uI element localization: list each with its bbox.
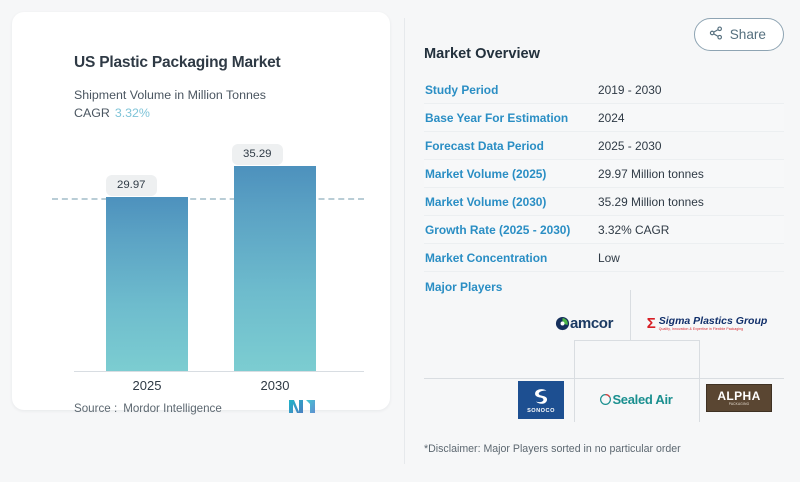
bar-value-label-2030: 35.29 (232, 144, 283, 165)
x-tick-2030: 2030 (234, 378, 316, 393)
cagr-value: 3.32% (115, 106, 150, 120)
market-overview-panel: Market Overview Study Period 2019 - 2030… (424, 46, 784, 302)
table-row: Market Concentration Low (424, 244, 784, 272)
row-value: 3.32% CAGR (598, 223, 669, 237)
sealed-air-wordmark: Sealed Air (612, 392, 672, 407)
x-tick-2025: 2025 (106, 378, 188, 393)
row-value: 29.97 Million tonnes (598, 167, 704, 181)
table-row: Growth Rate (2025 - 2030) 3.32% CAGR (424, 216, 784, 244)
chart-card: US Plastic Packaging Market Shipment Vol… (12, 12, 390, 410)
chart-subtitle: Shipment Volume in Million Tonnes (74, 88, 266, 102)
player-logo-sigma-plastics-group[interactable]: Σ Sigma Plastics Group Quality, Innovati… (642, 310, 772, 336)
player-logo-sonoco[interactable]: SONOCO (510, 380, 572, 420)
player-logo-amcor[interactable]: amcor (536, 308, 632, 338)
sealed-air-icon (599, 393, 612, 406)
sonoco-wordmark: SONOCO (527, 408, 555, 414)
alpha-subtitle: PACKAGING (729, 402, 750, 406)
market-overview-title: Market Overview (424, 46, 784, 62)
table-row: Base Year For Estimation 2024 (424, 104, 784, 132)
grid-divider (424, 378, 784, 379)
row-label: Market Concentration (424, 251, 598, 265)
source-label: Source : (74, 402, 117, 415)
cagr-label: CAGR (74, 106, 110, 120)
sigma-wordmark: Sigma Plastics Group (659, 315, 768, 327)
player-logo-sealed-air[interactable]: Sealed Air (576, 382, 696, 416)
disclaimer-text: *Disclaimer: Major Players sorted in no … (424, 443, 681, 455)
row-value: Low (598, 251, 620, 265)
row-value: 2019 - 2030 (598, 83, 661, 97)
sigma-symbol-icon: Σ (647, 316, 656, 331)
grid-divider (574, 340, 699, 341)
cagr-row: CAGR 3.32% (74, 106, 150, 120)
amcor-icon (555, 316, 570, 331)
player-logo-alpha[interactable]: ALPHA PACKAGING (704, 382, 774, 414)
table-row: Forecast Data Period 2025 - 2030 (424, 132, 784, 160)
alpha-wordmark: ALPHA (717, 390, 760, 402)
row-value: 35.29 Million tonnes (598, 195, 704, 209)
axis-baseline (74, 371, 364, 372)
major-players-grid: amcor Σ Sigma Plastics Group Quality, In… (424, 290, 784, 422)
source-name: Mordor Intelligence (123, 402, 222, 415)
sonoco-icon (530, 387, 552, 407)
row-label: Growth Rate (2025 - 2030) (424, 223, 598, 237)
panel-divider (404, 18, 405, 464)
share-nodes-icon (709, 26, 723, 43)
source-row: Source : Mordor Intelligence (74, 402, 222, 415)
market-snapshot-page: US Plastic Packaging Market Shipment Vol… (0, 0, 800, 482)
grid-divider (574, 340, 575, 422)
row-label: Market Volume (2025) (424, 167, 598, 181)
table-row: Market Volume (2030) 35.29 Million tonne… (424, 188, 784, 216)
bar-2030[interactable] (234, 166, 316, 372)
table-row: Market Volume (2025) 29.97 Million tonne… (424, 160, 784, 188)
bar-value-label-2025: 29.97 (106, 175, 157, 196)
grid-divider (699, 378, 700, 422)
row-label: Study Period (424, 83, 598, 97)
bar-chart-plot: 29.97 35.29 2025 2030 (74, 132, 364, 372)
row-value: 2025 - 2030 (598, 139, 661, 153)
share-button-label: Share (730, 27, 766, 42)
row-value: 2024 (598, 111, 624, 125)
row-label: Base Year For Estimation (424, 111, 598, 125)
table-row: Study Period 2019 - 2030 (424, 76, 784, 104)
mordor-intelligence-logo (289, 398, 315, 419)
row-label: Forecast Data Period (424, 139, 598, 153)
reference-line (52, 198, 364, 200)
bar-2025[interactable] (106, 197, 188, 372)
amcor-wordmark: amcor (570, 315, 613, 332)
sigma-tagline: Quality, Innovation & Expertise in Flexi… (659, 327, 768, 331)
chart-title: US Plastic Packaging Market (74, 54, 281, 72)
row-label: Market Volume (2030) (424, 195, 598, 209)
